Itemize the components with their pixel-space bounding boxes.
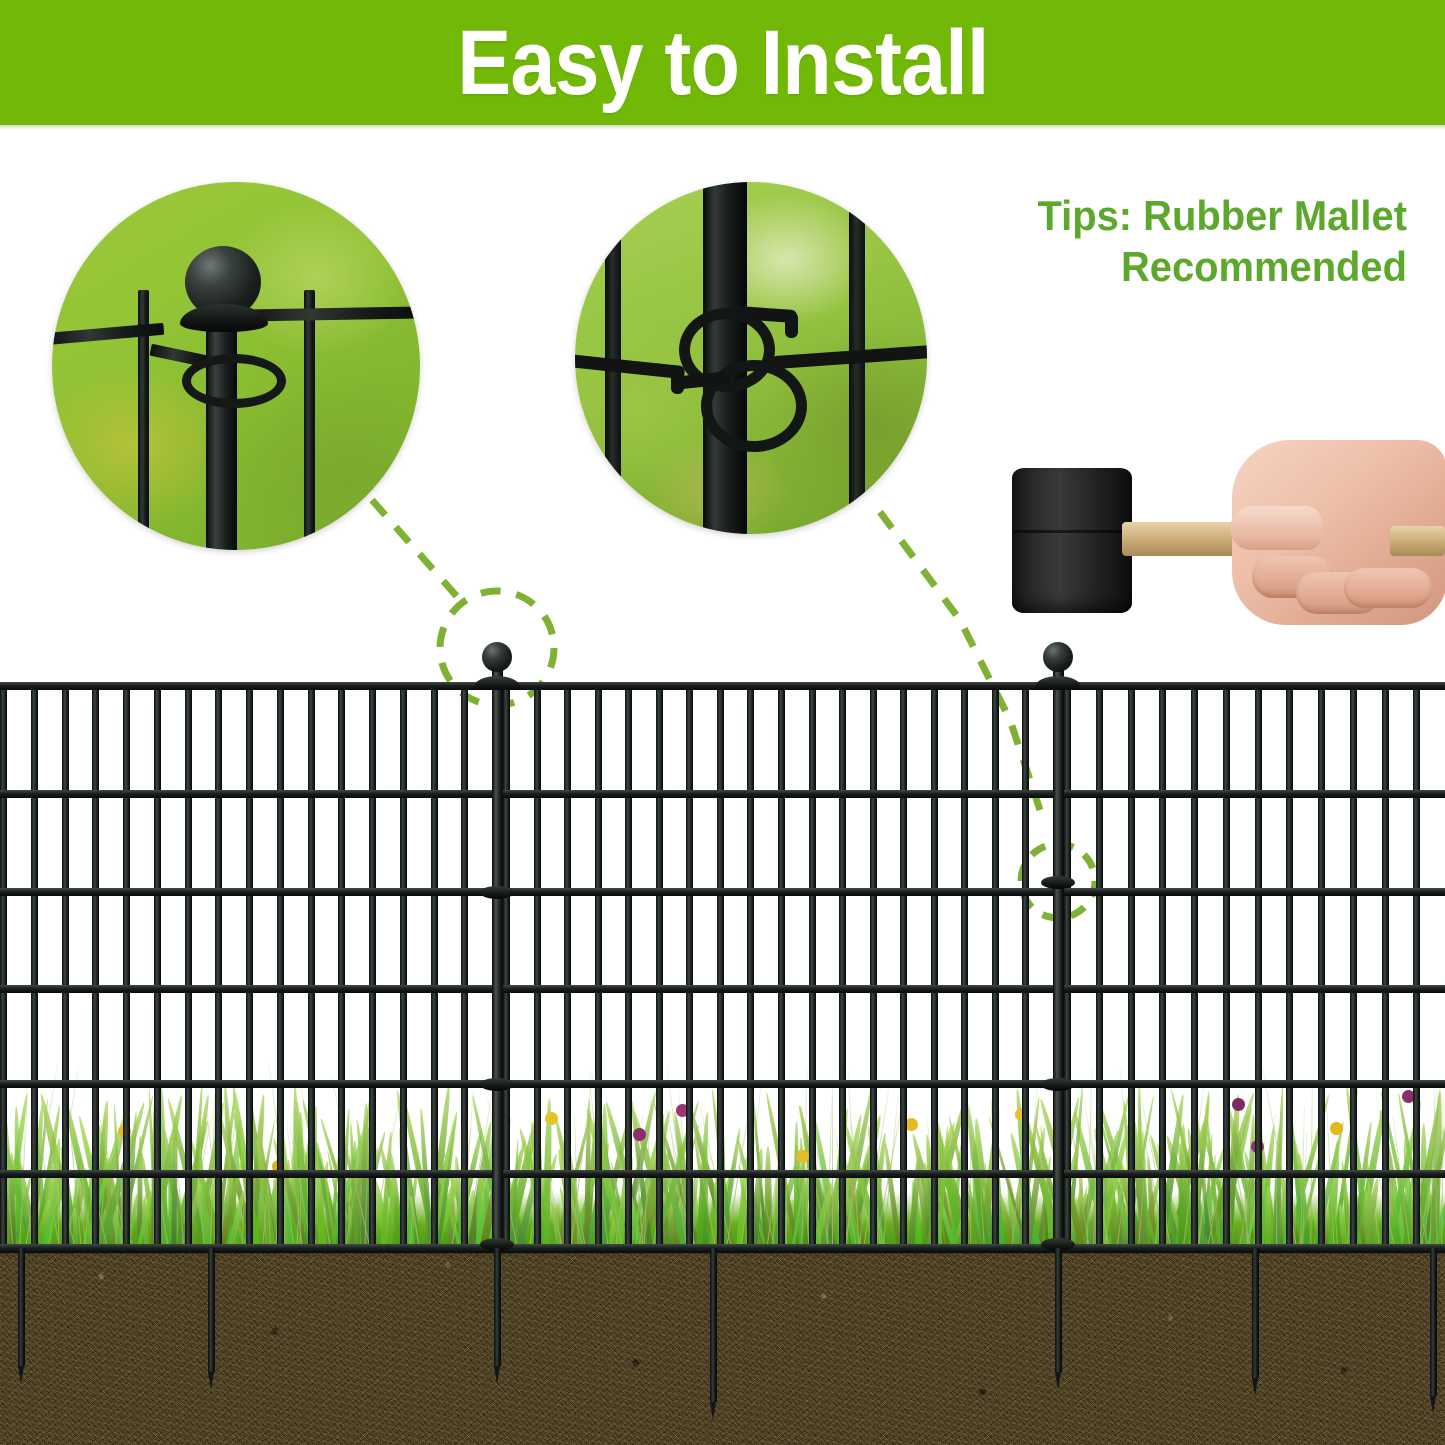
fence-vertical-bar [1286,682,1293,1252]
fence-vertical-bar [1318,682,1325,1252]
fence-vertical-bar [809,682,816,1252]
thumb [1230,506,1322,550]
fence-assembly [0,640,1445,1252]
ground-stake-tip [18,1366,24,1384]
fence-vertical-bar [931,682,938,1252]
fence-rail [0,1170,1445,1178]
post-knuckle [1041,876,1075,889]
mallet-handle-end [1390,526,1445,556]
ground-stake-tip [1430,1396,1436,1414]
fence-vertical-bar [595,682,602,1252]
fence-vertical-bar [1022,682,1029,1252]
fence-rail [0,985,1445,993]
tips-line-1: Tips: Rubber Mallet [961,190,1408,241]
post-knuckle [480,1078,514,1091]
fence-vertical-bar [1096,682,1103,1252]
fence-vertical-bar [277,682,284,1252]
fence-rail [0,790,1445,798]
ground-stake [1055,1248,1062,1372]
finger [1344,568,1432,608]
fence-vertical-bar [1159,682,1166,1252]
fence-vertical-bar [31,682,38,1252]
ground-stake [494,1248,501,1366]
fence-vertical-bar [92,682,99,1252]
fence-vertical-bar [1128,682,1135,1252]
fence-vertical-bar [1350,682,1357,1252]
finial-cap [474,676,520,690]
fence-vertical-bar [992,682,999,1252]
fence-vertical-bar [503,682,510,1252]
fence-rail-bottom [0,1244,1445,1253]
detail-hook-stub [785,312,798,338]
fence-vertical-bar [564,682,571,1252]
fence-vertical-bar [338,682,345,1252]
fence-vertical-bar [308,682,315,1252]
post-knuckle [1041,1078,1075,1091]
fence-vertical-bar [431,682,438,1252]
soil-texture [0,1249,1445,1445]
ground-stake [710,1248,717,1402]
soil-layer [0,1249,1445,1445]
tips-line-2: Recommended [961,241,1408,292]
fence-vertical-bar [961,682,968,1252]
ground-stake-tip [710,1402,716,1420]
mallet-head [1012,468,1132,613]
fence-vertical-bar [154,682,161,1252]
fence-vertical-bar [625,682,632,1252]
fence-rail [0,682,1445,690]
banner-shadow [0,125,1445,130]
fence-vertical-bar [717,682,724,1252]
fence-vertical-bar [185,682,192,1252]
fence-rail [0,1080,1445,1088]
fence-vertical-bar [747,682,754,1252]
fence-post [492,662,503,1250]
fence-vertical-bar [123,682,130,1252]
fence-vertical-bar [1191,682,1198,1252]
fence-vertical-bar [1255,682,1262,1252]
fence-vertical-bar [461,682,468,1252]
ground-stake [208,1248,215,1372]
ground-stake [1252,1248,1259,1378]
ground-stake-tip [1055,1372,1061,1390]
fence-vertical-bar [839,682,846,1252]
fence-vertical-bar [1382,682,1389,1252]
post-knuckle [480,886,514,899]
page-title: Easy to Install [457,17,988,109]
fence-vertical-bar [1064,682,1071,1252]
ball-finial [1043,642,1073,672]
fence-vertical-bar [534,682,541,1252]
detail-hook-stub [671,370,684,394]
fence-vertical-bar [686,682,693,1252]
detail-post [206,300,237,550]
detail-loop-stub [198,358,210,372]
infographic-canvas: Easy to Install Tips: Rubber Mallet Reco… [0,0,1445,1445]
fence-vertical-bar [778,682,785,1252]
fence-vertical-bar [900,682,907,1252]
fence-vertical-bar [62,682,69,1252]
ball-finial [482,642,512,672]
fence-vertical-bar [400,682,407,1252]
fence-vertical-bar [1223,682,1230,1252]
header-banner: Easy to Install [0,0,1445,125]
callout-circle-hook-connector [575,182,927,534]
fence-vertical-bar [1413,682,1420,1252]
fence-vertical-bar [246,682,253,1252]
ground-stake-tip [1252,1378,1258,1396]
ground-stake-tip [494,1366,500,1384]
fence-vertical-bar [0,682,7,1252]
fence-post [1053,662,1064,1250]
ground-stake [1430,1248,1437,1396]
finial-cap [1035,676,1081,690]
detail-wire-vertical [304,290,315,550]
fence-vertical-bar [656,682,663,1252]
fence-rail [0,888,1445,896]
tips-text: Tips: Rubber Mallet Recommended [961,190,1408,292]
ground-stake-tip [208,1372,214,1390]
fence-vertical-bar [215,682,222,1252]
ground-stake [18,1248,25,1366]
callout-circle-post-top [52,182,420,550]
fence-vertical-bar [870,682,877,1252]
fence-vertical-bar [369,682,376,1252]
